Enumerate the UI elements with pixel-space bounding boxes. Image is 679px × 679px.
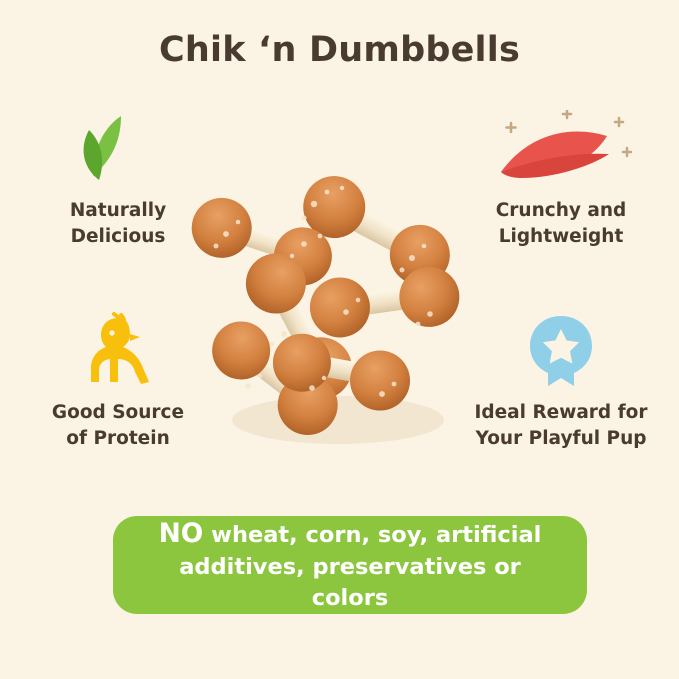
feature-crunchy-lightweight: Crunchy and Lightweight: [461, 110, 661, 251]
no-ingredients-banner: NO wheat, corn, soy, artificial additive…: [113, 516, 587, 614]
feature-ideal-reward: Ideal Reward for Your Playful Pup: [461, 312, 661, 453]
feature-label-line1: Crunchy and: [461, 198, 661, 224]
feather-icon: [461, 110, 661, 188]
feature-label-line2: Lightweight: [461, 224, 661, 250]
claim-line1: wheat, corn, soy, artificial: [203, 522, 541, 548]
claim-line2: additives, preservatives or colors: [179, 554, 521, 611]
product-photo-chicken-dumbbell-treats: [186, 148, 486, 458]
award-ribbon-icon: [461, 312, 661, 390]
page-title: Chik ‘n Dumbbells: [0, 30, 679, 70]
no-emphasis: NO: [159, 518, 204, 549]
feature-label-line2: Your Playful Pup: [461, 426, 661, 452]
no-ingredients-text: NO wheat, corn, soy, artificial additive…: [139, 516, 561, 615]
product-feature-graphic: Chik ‘n Dumbbells Naturally Delicious: [0, 0, 679, 679]
feature-label-line1: Ideal Reward for: [461, 400, 661, 426]
